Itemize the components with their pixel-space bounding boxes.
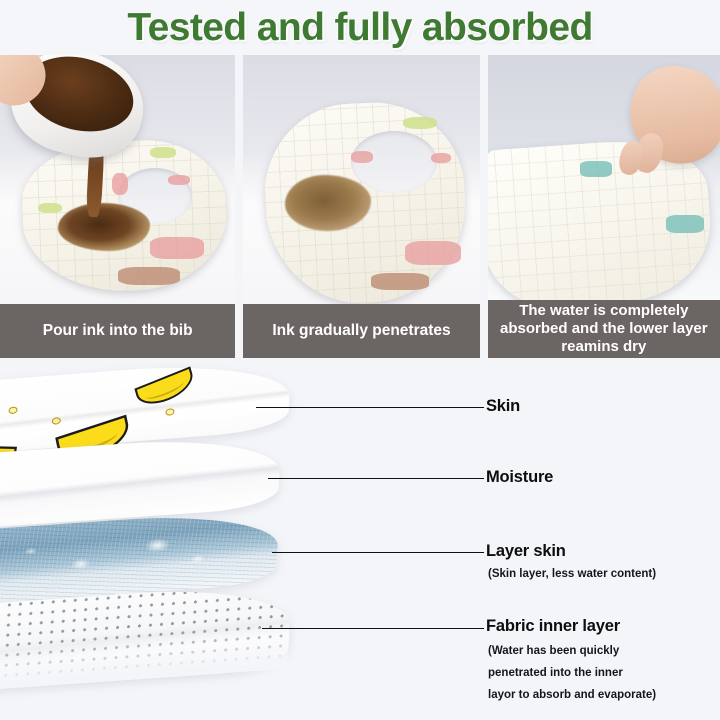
- layer-label-layer-skin: Layer skin: [486, 542, 566, 561]
- panel-caption: Pour ink into the bib: [0, 304, 235, 358]
- layer-sublabel-layer-skin: (Skin layer, less water content): [488, 565, 656, 584]
- photo-lower-layer-dry: [488, 55, 720, 300]
- demo-panel-ink-penetrates[interactable]: Ink gradually penetrates: [243, 55, 479, 358]
- layer-diagram: Skin Moisture Layer skin (Skin layer, le…: [0, 362, 720, 720]
- ink-splat: [58, 203, 150, 251]
- panel-caption: Ink gradually penetrates: [243, 304, 479, 358]
- demo-panel-lower-layer-dry[interactable]: The water is completely absorbed and the…: [488, 55, 720, 358]
- photo-pour-ink: [0, 55, 235, 304]
- photo-ink-penetrates: [243, 55, 479, 304]
- leader-line: [262, 628, 484, 629]
- layer-swatch-skin: [0, 357, 291, 455]
- demo-panel-row: Pour ink into the bib Ink gradually pene…: [0, 55, 720, 360]
- demo-panel-pour-ink[interactable]: Pour ink into the bib: [0, 55, 235, 358]
- layer-swatch-fabric-inner-layer: [0, 582, 292, 692]
- layer-label-moisture: Moisture: [486, 468, 553, 487]
- page-title: Tested and fully absorbed: [127, 6, 592, 50]
- layer-sublabel-fabric-inner-layer-1: (Water has been quickly: [488, 642, 619, 661]
- layer-sublabel-fabric-inner-layer-3: layor to absorb and evaporate): [488, 686, 656, 705]
- leader-line: [256, 407, 484, 408]
- panel-caption: The water is completely absorbed and the…: [488, 300, 720, 358]
- page-header: Tested and fully absorbed: [0, 0, 720, 55]
- layer-label-fabric-inner-layer: Fabric inner layer: [486, 617, 620, 636]
- layer-label-skin: Skin: [486, 397, 520, 416]
- leader-line: [272, 552, 484, 553]
- leader-line: [268, 478, 484, 479]
- layer-sublabel-fabric-inner-layer-2: penetrated into the inner: [488, 664, 623, 683]
